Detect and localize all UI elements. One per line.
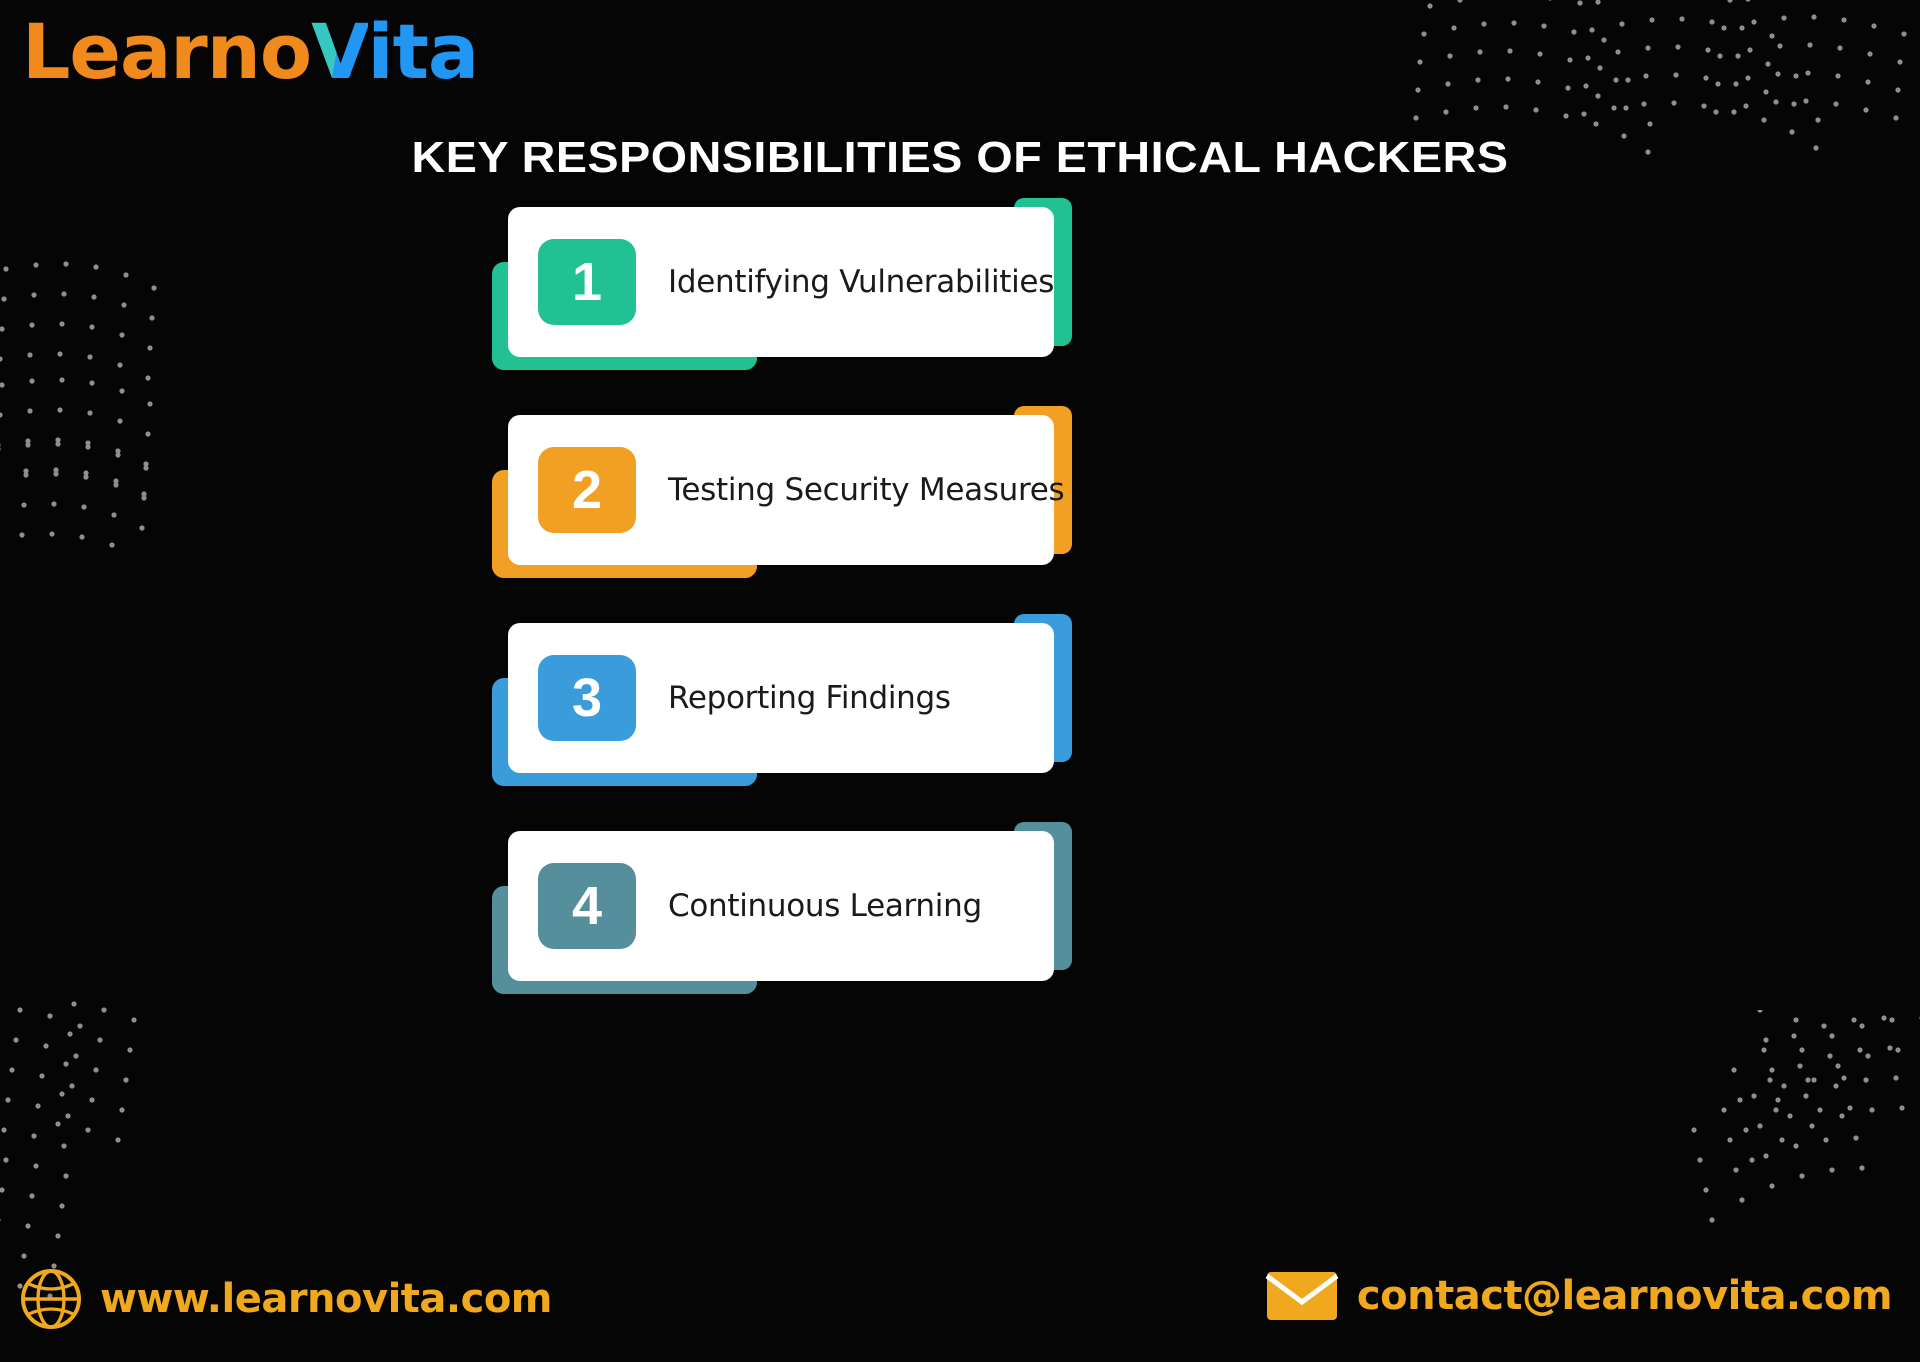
brand-logo[interactable]: LearnoVita	[22, 10, 478, 94]
dot-pattern-bottom-left	[0, 1000, 220, 1300]
poster-canvas: LearnoVita KEY RESPONSIBILITIES OF ETHIC…	[0, 0, 1920, 1362]
card-surface[interactable]: 3 Reporting Findings	[508, 623, 1054, 773]
footer-email[interactable]: contact@learnovita.com	[1265, 1268, 1892, 1324]
footer-website[interactable]: www.learnovita.com	[20, 1268, 552, 1330]
footer: www.learnovita.com contact@learnovita.co…	[0, 1260, 1920, 1338]
card-number-badge: 4	[538, 863, 636, 949]
list-item[interactable]: 4 Continuous Learning	[492, 822, 1072, 994]
responsibility-list: 1 Identifying Vulnerabilities 2 Testing …	[492, 198, 1072, 1030]
card-label: Continuous Learning	[668, 888, 982, 924]
dot-pattern-left	[0, 255, 250, 555]
website-url: www.learnovita.com	[100, 1276, 552, 1322]
list-item[interactable]: 2 Testing Security Measures	[492, 406, 1072, 578]
list-item[interactable]: 3 Reporting Findings	[492, 614, 1072, 786]
page-title: KEY RESPONSIBILITIES OF ETHICAL HACKERS	[0, 133, 1920, 183]
globe-icon	[20, 1268, 82, 1330]
logo-text-learno: Learno	[22, 7, 311, 96]
card-label: Reporting Findings	[668, 680, 951, 716]
card-number-badge: 3	[538, 655, 636, 741]
card-surface[interactable]: 2 Testing Security Measures	[508, 415, 1054, 565]
logo-text-v: V	[311, 7, 367, 96]
envelope-icon	[1265, 1268, 1339, 1324]
card-surface[interactable]: 4 Continuous Learning	[508, 831, 1054, 981]
logo-text-ita: ita	[368, 7, 479, 96]
list-item[interactable]: 1 Identifying Vulnerabilities	[492, 198, 1072, 370]
card-label: Testing Security Measures	[668, 472, 1064, 508]
card-number-badge: 1	[538, 239, 636, 325]
card-surface[interactable]: 1 Identifying Vulnerabilities	[508, 207, 1054, 357]
email-address: contact@learnovita.com	[1357, 1273, 1892, 1319]
card-label: Identifying Vulnerabilities	[668, 264, 1054, 300]
card-number-badge: 2	[538, 447, 636, 533]
